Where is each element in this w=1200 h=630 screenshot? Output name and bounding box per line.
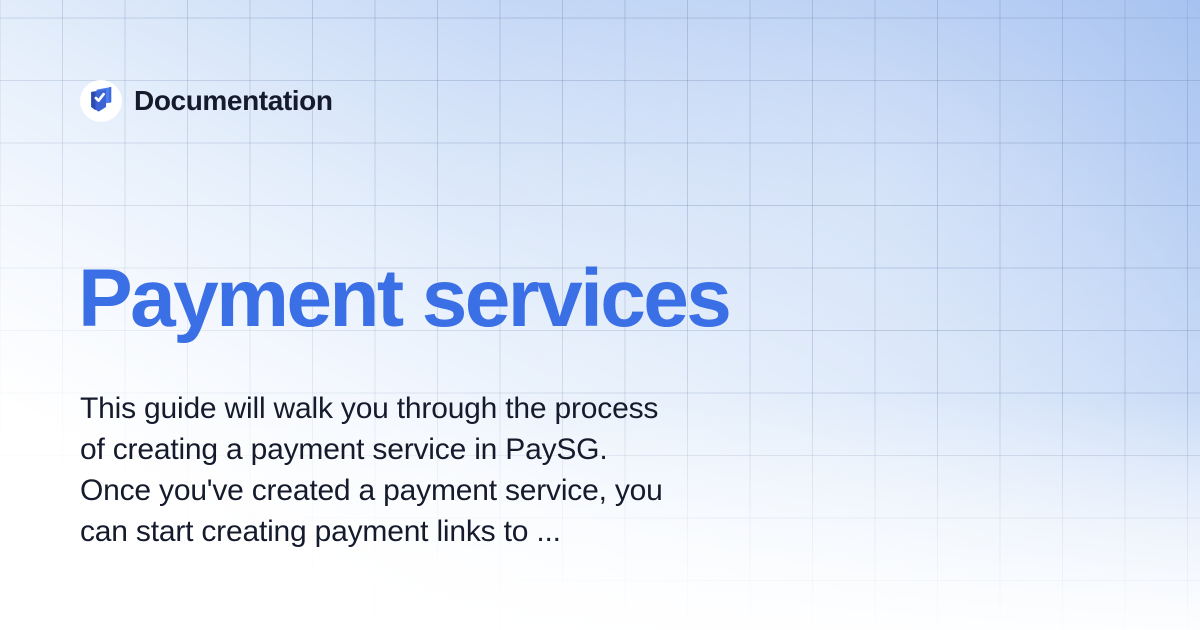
og-card: Documentation Payment services This guid… [0,0,1200,630]
brand-lockup: Documentation [80,80,333,122]
bookmark-check-icon [80,80,122,122]
page-title: Payment services [78,258,729,340]
brand-name-label: Documentation [134,87,333,115]
page-description: This guide will walk you through the pro… [80,388,880,552]
card-content: Documentation Payment services This guid… [0,0,1200,630]
